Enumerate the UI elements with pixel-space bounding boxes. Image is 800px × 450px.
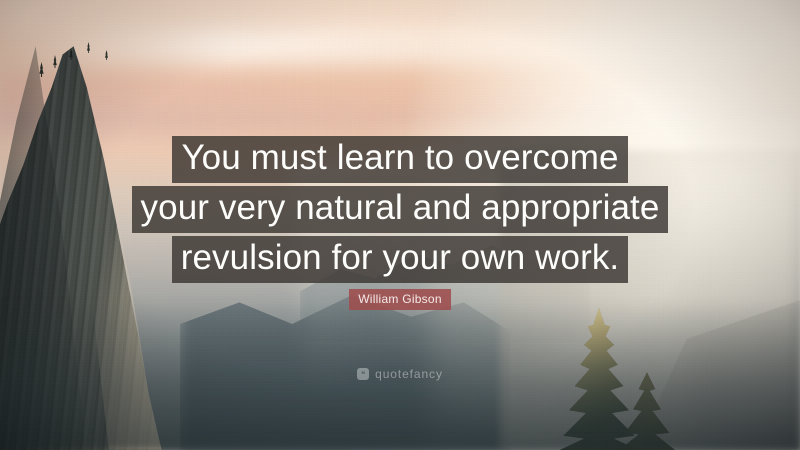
quote-text-block: You must learn to overcome your very nat… (0, 136, 800, 283)
watermark: ❝ quotefancy (0, 367, 800, 381)
watermark-brand-text: quotefancy (375, 367, 443, 381)
quotefancy-logo-icon: ❝ (357, 368, 369, 380)
quote-line-1: You must learn to overcome (172, 136, 627, 183)
author-attribution: William Gibson (0, 289, 800, 310)
author-name-badge[interactable]: William Gibson (349, 289, 451, 310)
quote-image-canvas: You must learn to overcome your very nat… (0, 0, 800, 450)
quote-line-2: your very natural and appropriate (132, 186, 669, 233)
quote-line-3: revulsion for your own work. (172, 236, 629, 283)
